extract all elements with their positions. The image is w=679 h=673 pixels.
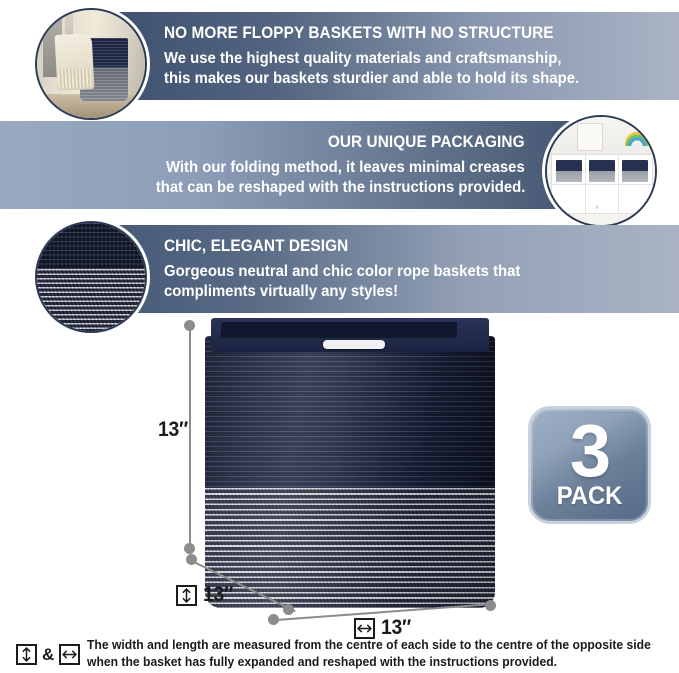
- basket-gray-lower: [205, 488, 495, 608]
- rope-texture-photo: [35, 221, 147, 333]
- mini-basket: [622, 160, 648, 182]
- nursery-shelf-photo: [545, 115, 657, 227]
- footnote-text-block: The width and length are measured from t…: [87, 637, 671, 671]
- shelf-cell: [586, 184, 619, 213]
- vertical-arrow-icon: [176, 585, 197, 606]
- feature-title-design: CHIC, ELEGANT DESIGN: [164, 237, 348, 255]
- footnote-line1: The width and length are measured from t…: [87, 637, 651, 654]
- feature-body-packaging-line1: With our folding method, it leaves minim…: [166, 158, 525, 178]
- feature-title-packaging: OUR UNIQUE PACKAGING: [328, 133, 525, 151]
- feature-body-design-line2: compliments virtually any styles!: [164, 282, 398, 302]
- feature-banner-packaging: OUR UNIQUE PACKAGING With our folding me…: [0, 121, 583, 209]
- feature-body-structure-line1: We use the highest quality materials and…: [164, 49, 561, 69]
- vertical-arrow-icon: [16, 644, 37, 665]
- shelf-cell: [552, 184, 585, 213]
- feature-body-packaging-line2: that can be reshaped with the instructio…: [155, 178, 525, 198]
- basket-interior-shadow: [221, 322, 458, 338]
- horizontal-arrow-icon: [59, 644, 80, 665]
- mini-basket: [589, 160, 615, 182]
- mini-basket: [556, 160, 582, 182]
- toy-plush: [644, 205, 649, 209]
- shelf-cell: [619, 155, 651, 184]
- feature-banner-structure: NO MORE FLOPPY BASKETS WITH NO STRUCTURE…: [118, 12, 679, 100]
- width-dim-dot-right: [485, 600, 496, 611]
- depth-dim-label: 13″: [203, 583, 233, 607]
- shelf-row-top: [552, 155, 651, 185]
- shelf-row-bottom: [552, 184, 651, 213]
- product-basket-illustration: [205, 318, 495, 608]
- height-dim-label: 13″: [158, 418, 188, 442]
- shelf-cell: [552, 155, 585, 184]
- toy-books: [596, 205, 599, 209]
- height-dim-dot-bottom: [184, 543, 195, 554]
- rainbow-toy: [625, 132, 649, 146]
- throw-fringe: [57, 69, 91, 90]
- wall-art-frame: [577, 123, 603, 151]
- rope-macro: [37, 223, 145, 331]
- height-dim-line: [189, 328, 191, 547]
- depth-dim-dot-far: [283, 604, 294, 615]
- pack-count: 3: [570, 421, 609, 482]
- feature-banner-design: CHIC, ELEGANT DESIGN Gorgeous neutral an…: [118, 225, 679, 313]
- basket-handle-cutout: [323, 340, 385, 349]
- footnote-icon-group: &: [16, 637, 80, 665]
- basket-with-throw-photo: [35, 8, 147, 120]
- feature-body-structure-line2: this makes our baskets sturdier and able…: [164, 69, 579, 89]
- three-pack-badge: 3 PACK: [528, 406, 651, 524]
- pack-word: PACK: [557, 484, 623, 509]
- rope-gray-section: [37, 269, 145, 331]
- depth-dim-callout: 13″: [176, 583, 236, 607]
- footnote-ampersand: &: [42, 645, 54, 665]
- horizontal-arrow-icon: [354, 618, 375, 639]
- basket-navy-upper: [205, 336, 495, 488]
- rope-navy-section: [37, 223, 145, 269]
- footnote-line2: when the basket has fully expanded and r…: [87, 654, 651, 671]
- measurement-footnote: & The width and length are measured from…: [16, 637, 666, 671]
- shelf-cell: [619, 184, 651, 213]
- cube-shelf-unit: [551, 154, 652, 214]
- toy-blocks: [555, 205, 560, 208]
- feature-body-design-line1: Gorgeous neutral and chic color rope bas…: [164, 262, 520, 282]
- feature-title-structure: NO MORE FLOPPY BASKETS WITH NO STRUCTURE: [164, 24, 554, 42]
- shelf-cell: [586, 155, 619, 184]
- basket-body: [205, 336, 495, 608]
